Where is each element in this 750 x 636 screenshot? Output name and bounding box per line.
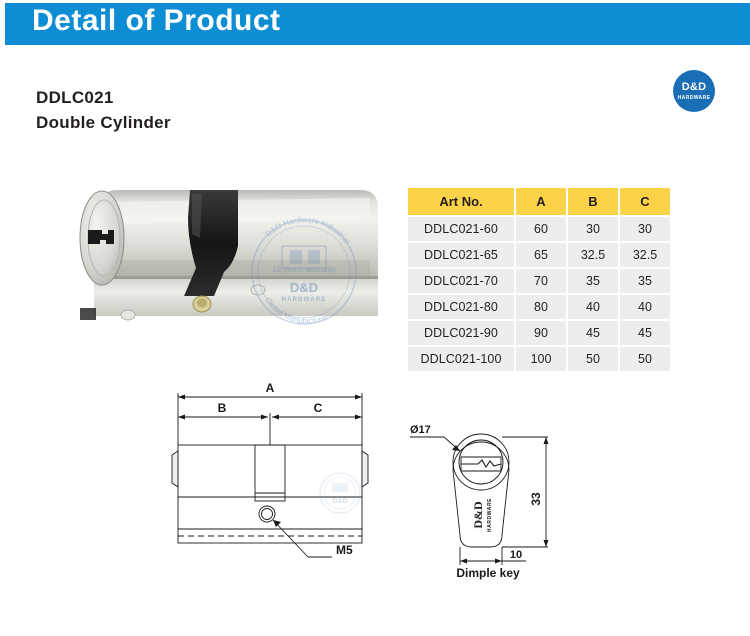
cell-art-no: DDLC021-80 [408, 295, 514, 319]
cell-c: 40 [620, 295, 670, 319]
photo-pin-left [121, 310, 135, 320]
cell-b: 40 [568, 295, 618, 319]
arrow-a-right [355, 395, 362, 400]
arrow-a-left [178, 395, 185, 400]
label-dim-a: A [266, 381, 275, 395]
leader-arrow-m5 [273, 520, 281, 527]
cell-art-no: DDLC021-65 [408, 243, 514, 267]
cell-b: 50 [568, 347, 618, 371]
table-row: DDLC021-65 65 32.5 32.5 [408, 243, 670, 267]
label-screw-m5: M5 [336, 543, 353, 557]
photo-pin-right [251, 285, 265, 295]
cell-c: 35 [620, 269, 670, 293]
cell-art-no: DDLC021-70 [408, 269, 514, 293]
label-width: 10 [510, 549, 522, 561]
profile-emboss: D&D HARDWARE [471, 498, 493, 532]
specification-table: Art No. A B C DDLC021-60 60 30 30 DDLC02… [406, 186, 672, 373]
caption-dimple-key: Dimple key [456, 566, 520, 580]
table-row: DDLC021-100 100 50 50 [408, 347, 670, 371]
page-title: Detail of Product [32, 6, 281, 36]
brand-logo: D&D HARDWARE [673, 70, 715, 112]
arrow-width-right [495, 559, 502, 564]
label-diameter: Ø17 [410, 424, 431, 436]
keyway-profile [461, 460, 501, 467]
leader-line-m5 [273, 520, 308, 557]
cell-b: 30 [568, 217, 618, 241]
cell-c: 45 [620, 321, 670, 345]
product-code: DDLC021 [36, 88, 114, 108]
front-view-drawing: A B C M5 D&D [150, 375, 400, 580]
arrow-height-bottom [544, 540, 549, 547]
photo-watermark-brand-sub: HARDWARE [282, 297, 327, 303]
cell-c: 50 [620, 347, 670, 371]
photo-lower-keyway [80, 308, 96, 320]
photo-watermark-brand: D&D [290, 280, 318, 295]
brand-logo-subtitle: HARDWARE [673, 95, 715, 102]
arrow-width-left [460, 559, 467, 564]
cell-a: 90 [516, 321, 566, 345]
label-dim-b: B [218, 401, 227, 415]
product-photo: D&D Hardware Industrial Co., Ltd 15 year… [62, 168, 378, 328]
photo-set-screw-inner [197, 299, 207, 308]
cell-art-no: DDLC021-60 [408, 217, 514, 241]
cell-c: 32.5 [620, 243, 670, 267]
arrow-b-right [261, 415, 268, 420]
cell-b: 32.5 [568, 243, 618, 267]
table-row: DDLC021-90 90 45 45 [408, 321, 670, 345]
label-height: 33 [529, 492, 543, 506]
profile-head-inner [459, 440, 503, 484]
cell-a: 65 [516, 243, 566, 267]
cell-art-no: DDLC021-100 [408, 347, 514, 371]
arrow-height-top [544, 437, 549, 444]
column-header-a: A [516, 188, 566, 215]
cell-b: 45 [568, 321, 618, 345]
label-dim-c: C [314, 401, 323, 415]
column-header-c: C [620, 188, 670, 215]
front-drawing-watermark: D&D [320, 473, 360, 513]
keyway-right [362, 451, 368, 487]
photo-highlight [108, 198, 370, 224]
cell-a: 70 [516, 269, 566, 293]
cell-a: 60 [516, 217, 566, 241]
keyway-left [172, 451, 178, 487]
emboss-brand-sub: HARDWARE [487, 498, 493, 532]
cell-art-no: DDLC021-90 [408, 321, 514, 345]
table-row: DDLC021-80 80 40 40 [408, 295, 670, 319]
side-view-drawing: Ø17 33 10 Dimple key D&D HARDWARE [398, 415, 588, 580]
cell-a: 100 [516, 347, 566, 371]
column-header-art-no: Art No. [408, 188, 514, 215]
table-header-row: Art No. A B C [408, 188, 670, 215]
emboss-brand: D&D [471, 501, 485, 529]
column-header-b: B [568, 188, 618, 215]
cell-a: 80 [516, 295, 566, 319]
screw-hole-inner [262, 509, 273, 520]
cell-c: 30 [620, 217, 670, 241]
svg-text:D&D: D&D [332, 498, 347, 505]
product-name: Double Cylinder [36, 113, 171, 133]
photo-flange [94, 276, 378, 316]
arrow-b-left [178, 415, 185, 420]
table-row: DDLC021-60 60 30 30 [408, 217, 670, 241]
table-row: DDLC021-70 70 35 35 [408, 269, 670, 293]
arrow-c-right [355, 415, 362, 420]
arrow-c-left [272, 415, 279, 420]
brand-logo-name: D&D [673, 82, 715, 93]
cell-b: 35 [568, 269, 618, 293]
photo-flange-edge [94, 276, 378, 279]
